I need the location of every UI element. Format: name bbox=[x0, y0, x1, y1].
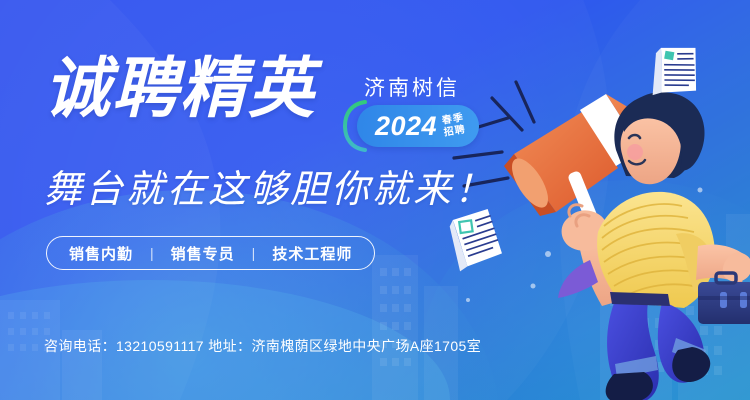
positions-list: 销售内勤 | 销售专员 | 技术工程师 bbox=[46, 236, 375, 270]
legs bbox=[606, 292, 711, 400]
resume-document-icon-2 bbox=[448, 208, 504, 272]
cheek bbox=[627, 144, 643, 160]
shoe-left bbox=[606, 372, 653, 400]
badge-season: 春季 招聘 bbox=[441, 113, 466, 138]
badge-season-line2: 招聘 bbox=[443, 125, 466, 139]
scarf bbox=[558, 260, 598, 298]
belt bbox=[610, 292, 670, 306]
year-badge: 2024 春季 招聘 bbox=[357, 105, 479, 147]
page-subtitle: 舞台就在这够胆你就来！ bbox=[44, 158, 495, 213]
right-arm bbox=[696, 244, 750, 284]
shirt bbox=[597, 192, 715, 308]
position-item-1[interactable]: 销售内勤 bbox=[69, 243, 133, 264]
page-title: 诚聘精英 bbox=[44, 55, 316, 121]
contact-info: 咨询电话：13210591117 地址：济南槐荫区绿地中央广场A座1705室 bbox=[44, 336, 481, 356]
position-separator-2: | bbox=[252, 245, 256, 261]
position-item-3[interactable]: 技术工程师 bbox=[272, 243, 352, 264]
company-name: 济南树信 bbox=[364, 72, 460, 102]
position-separator-1: | bbox=[150, 245, 154, 261]
recruitment-banner: 诚聘精英 济南树信 2024 春季 招聘 舞台就在这够胆你就来！ 销售内勤 | … bbox=[0, 0, 750, 400]
badge-year: 2024 bbox=[375, 111, 437, 142]
resume-document-icon-1 bbox=[649, 41, 704, 102]
position-item-2[interactable]: 销售专员 bbox=[171, 243, 235, 264]
